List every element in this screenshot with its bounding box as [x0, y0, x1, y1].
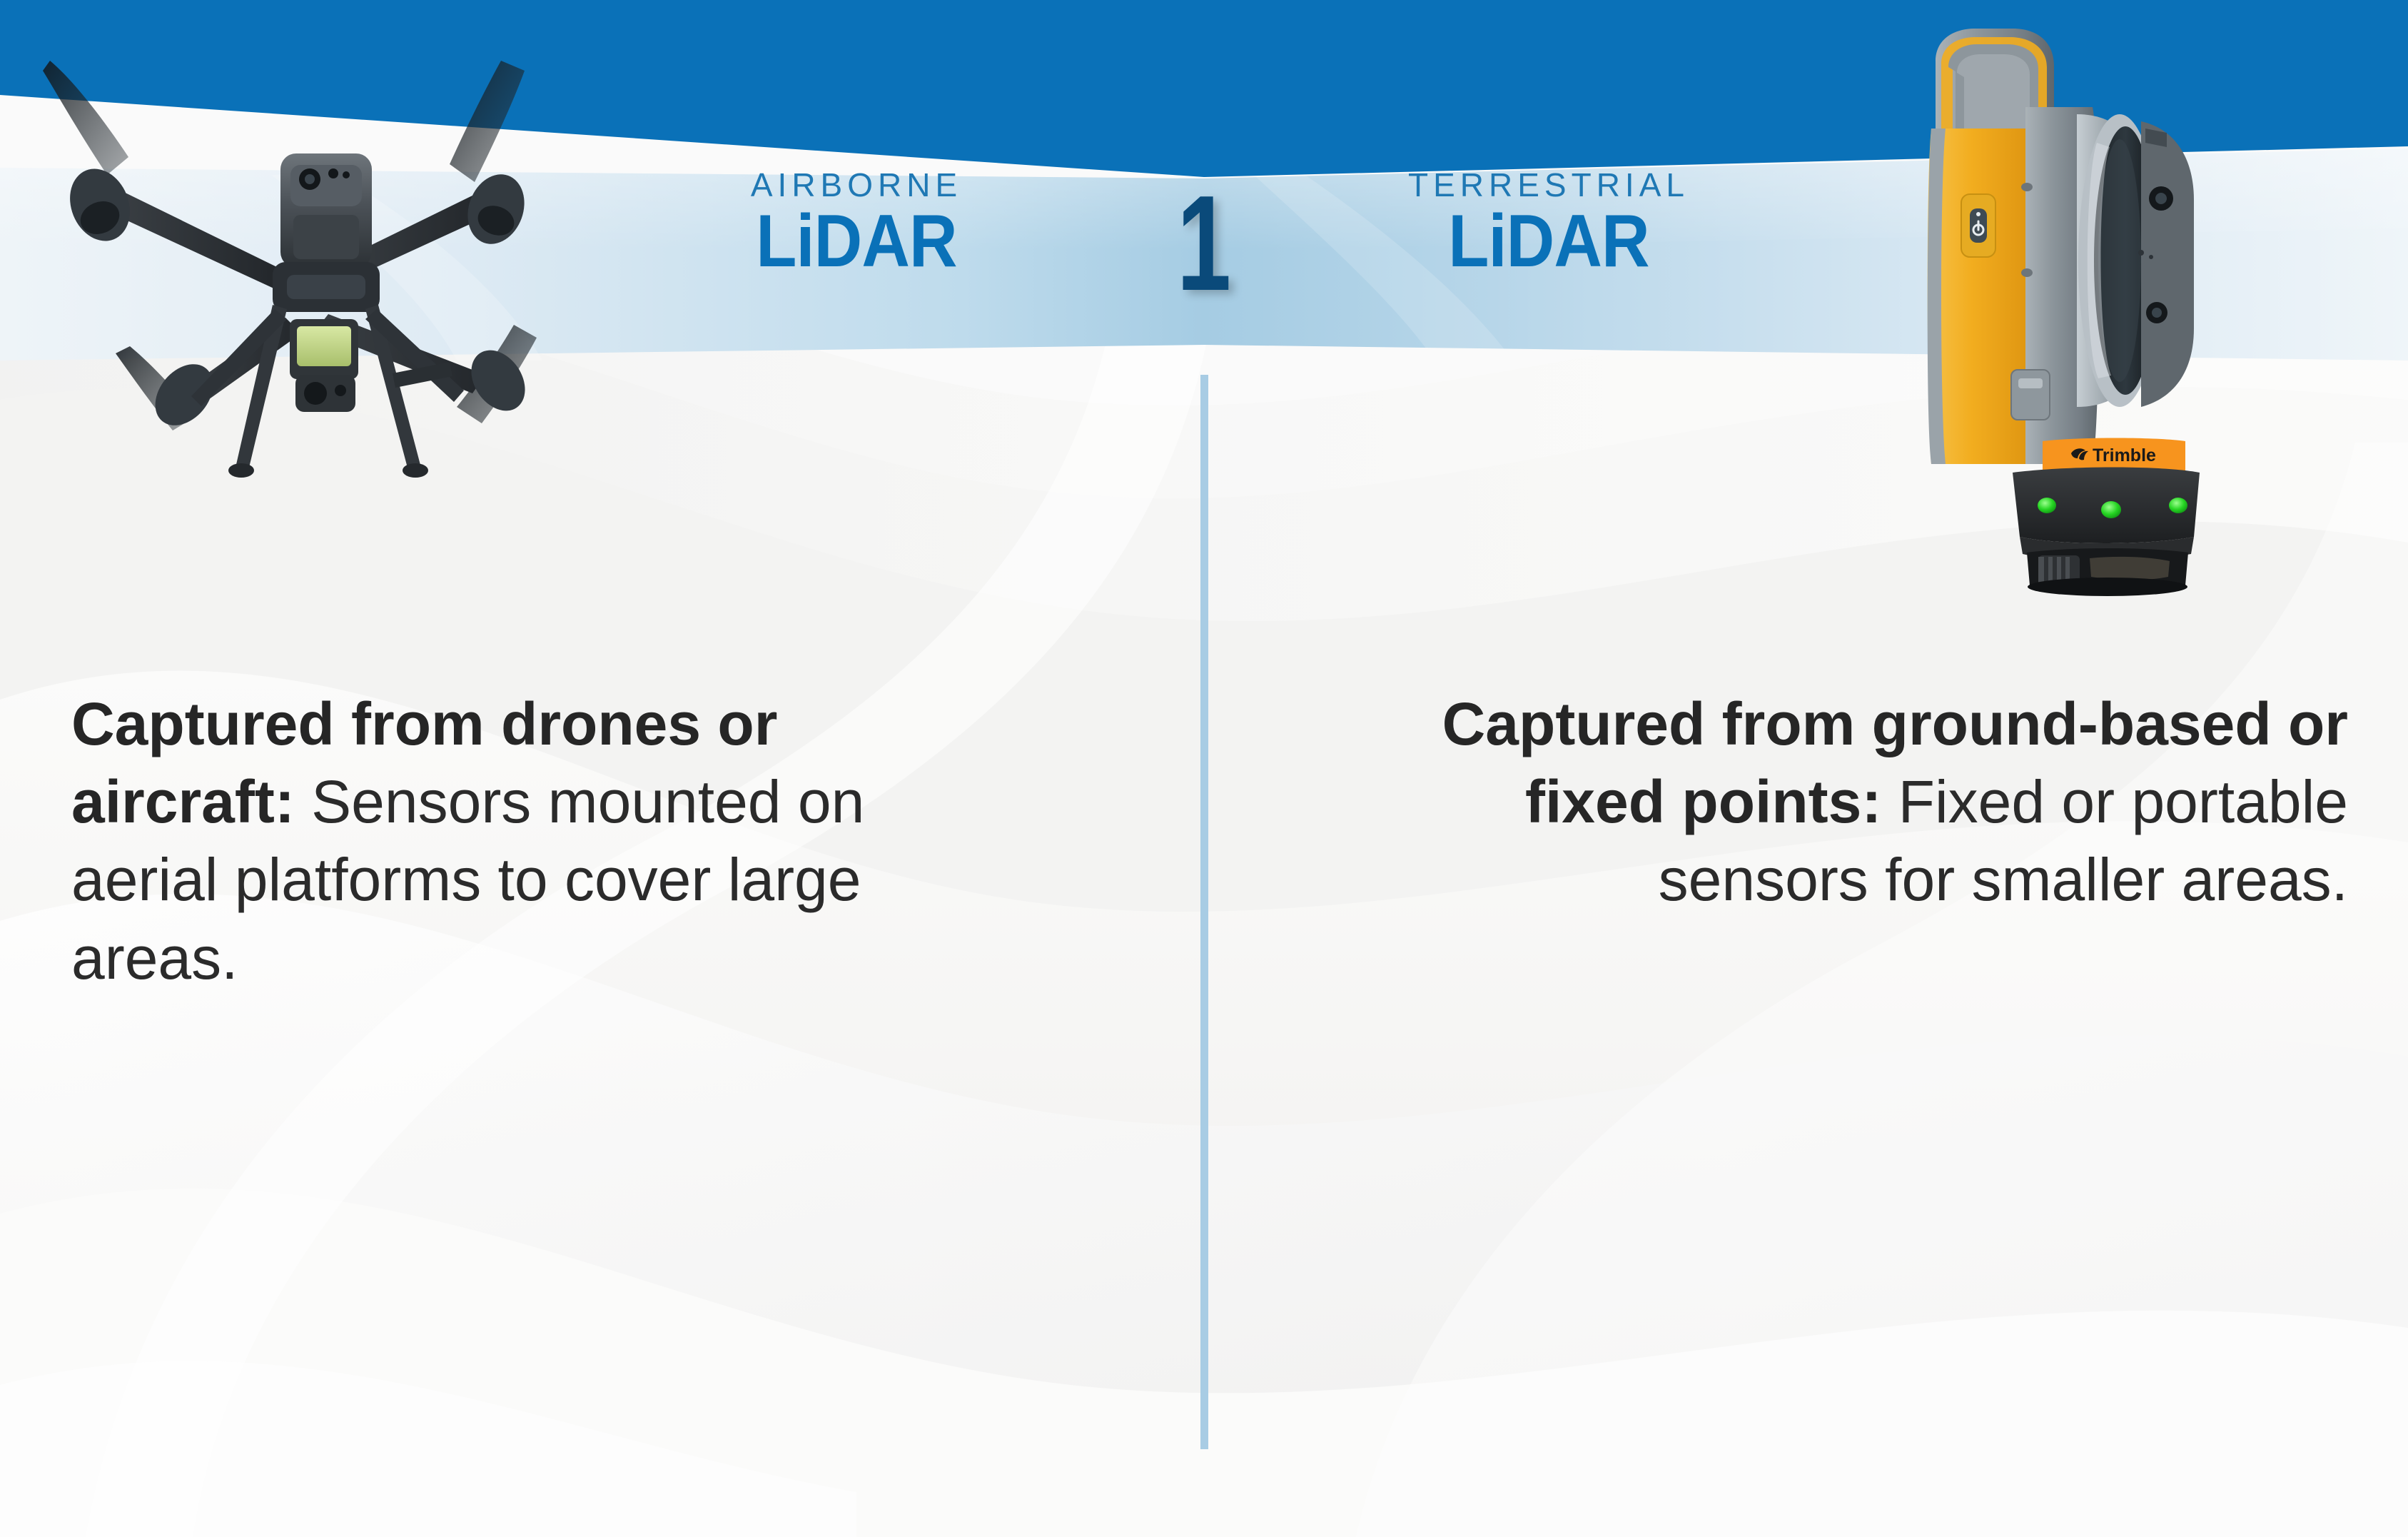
step-number-badge: 1 — [1163, 176, 1245, 311]
scanner-brand-label: Trimble — [2093, 445, 2156, 465]
infographic-canvas: AIRBORNE LiDAR TERRESTRIAL LiDAR 1 Captu… — [0, 0, 2408, 1537]
left-column-copy: Captured from drones or aircraft: Sensor… — [71, 685, 971, 997]
right-column-copy: Captured from ground-based or fixed poin… — [1406, 685, 2348, 919]
drone-icon — [21, 39, 585, 482]
laser-scanner-icon: Trimble — [1906, 21, 2212, 600]
center-divider — [1200, 375, 1208, 1449]
